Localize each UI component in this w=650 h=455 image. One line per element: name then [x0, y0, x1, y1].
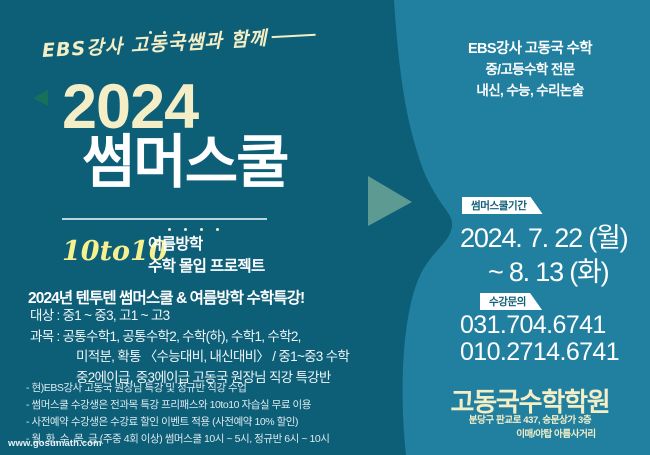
academy-address-line1: 분당구 판교로 437, 숭문상가 3층: [469, 415, 591, 426]
instructor-headline-line3: 내신, 수능, 수리논술: [410, 81, 650, 102]
dot: [216, 228, 219, 231]
dot: [168, 228, 171, 231]
program-subtitle-line2: 수학 몰입 프로젝트: [148, 256, 265, 278]
left-arrow-icon: [33, 90, 48, 106]
academy-address: 분당구 판교로 437, 숭문상가 3층 이매/야탑 아름사거리: [410, 414, 650, 443]
right-info-panel: EBS강사 고동국 수학 중/고등수학 전문 내신, 수능, 수리논술 썸머스쿨…: [410, 0, 650, 455]
course-details: 대상 : 중1 ~ 중3, 고1 ~ 고3 과목 : 공통수학1, 공통수학2,…: [30, 306, 349, 388]
period-tag-label: 썸머스쿨기간: [462, 197, 543, 214]
main-title: 썸머스쿨: [82, 130, 287, 197]
benefit-item: - 사전예약 수강생은 수강료 할인 이벤트 적용 (사전예약 10% 할인): [26, 414, 329, 431]
promo-banner: EBS강사 고동국쌤과 함께 2024 썸머스쿨 10to10 여름방학 수학 …: [0, 0, 650, 455]
contact-tag-label: 수강문의: [480, 293, 542, 310]
phone-number-landline[interactable]: 031.704.6741: [460, 311, 606, 340]
program-subtitle: 여름방학 수학 몰입 프로젝트: [148, 234, 265, 279]
left-content-panel: EBS강사 고동국쌤과 함께 2024 썸머스쿨 10to10 여름방학 수학 …: [0, 0, 400, 455]
academy-address-line2: 이매/야탑 아름사거리: [410, 428, 650, 442]
course-detail-target: 대상 : 중1 ~ 중3, 고1 ~ 고3: [30, 306, 349, 327]
benefit-item: - 썸머스쿨 수강생은 전과목 특강 프리패스와 10to10 자습실 무료 이…: [26, 397, 329, 414]
instructor-headline-line1: EBS강사 고동국 수학: [410, 38, 650, 60]
dot: [200, 228, 203, 231]
phone-number-mobile[interactable]: 010.2714.6741: [460, 338, 619, 367]
course-detail-subjects-cont1: 미적분, 확통 〈수능대비, 내신대비〉 / 중1~중3 수학: [30, 347, 349, 368]
instructor-headline-line2: 중/고등수학 전문: [410, 60, 650, 81]
instructor-headline: EBS강사 고동국 수학 중/고등수학 전문 내신, 수능, 수리논술: [410, 38, 650, 102]
dot: [184, 228, 187, 231]
promo-headline: 2024년 텐투텐 썸머스쿨 & 여름방학 수학특강!: [28, 286, 304, 308]
dots-decoration-mid: [168, 228, 219, 231]
handwritten-tagline: EBS강사 고동국쌤과 함께: [41, 19, 342, 63]
section-divider: [62, 218, 267, 220]
tagline-rule: [271, 34, 315, 38]
course-detail-subjects: 과목 : 공통수학1, 공통수학2, 수학(하), 수학1, 수학2,: [30, 327, 349, 348]
benefit-item: - 현)EBS강사 고동국 원장님 특강 및 정규반 직강 수업: [26, 380, 329, 397]
handwritten-tagline-text: EBS강사 고동국쌤과 함께: [41, 27, 268, 62]
period-date-line2: ~ 8. 13 (화): [488, 250, 608, 289]
program-subtitle-line1: 여름방학: [148, 234, 265, 256]
website-url[interactable]: www.gosumath.com: [8, 438, 102, 449]
